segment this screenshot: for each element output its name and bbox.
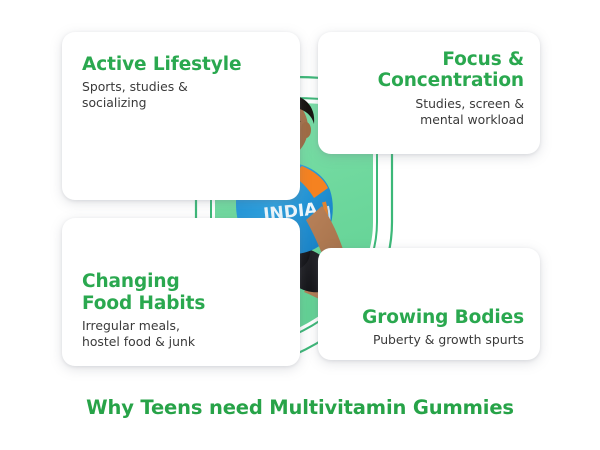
card-active-lifestyle-content: Active Lifestyle Sports, studies & socia… bbox=[82, 54, 286, 111]
card-focus-concentration-content: Focus & Concentration Studies, screen & … bbox=[332, 49, 524, 128]
card-changing-food-habits-description: Irregular meals, hostel food & junk bbox=[82, 318, 286, 350]
card-growing-bodies: Growing Bodies Puberty & growth spurts bbox=[318, 248, 540, 360]
card-active-lifestyle-title: Active Lifestyle bbox=[82, 54, 286, 75]
infographic-canvas: INDIA bbox=[0, 0, 600, 450]
card-focus-concentration-description: Studies, screen & mental workload bbox=[415, 96, 524, 128]
card-changing-food-habits-title: Changing Food Habits bbox=[82, 271, 286, 314]
card-growing-bodies-title: Growing Bodies bbox=[362, 307, 524, 328]
card-changing-food-habits-content: Changing Food Habits Irregular meals, ho… bbox=[82, 271, 286, 350]
card-changing-food-habits: Changing Food Habits Irregular meals, ho… bbox=[62, 218, 300, 366]
card-active-lifestyle-description: Sports, studies & socializing bbox=[82, 79, 286, 111]
card-growing-bodies-description: Puberty & growth spurts bbox=[373, 332, 524, 348]
card-focus-concentration-title: Focus & Concentration bbox=[378, 49, 524, 92]
infographic-caption: Why Teens need Multivitamin Gummies bbox=[0, 396, 600, 419]
card-growing-bodies-content: Growing Bodies Puberty & growth spurts bbox=[332, 307, 524, 348]
card-focus-concentration: Focus & Concentration Studies, screen & … bbox=[318, 32, 540, 154]
card-active-lifestyle: Active Lifestyle Sports, studies & socia… bbox=[62, 32, 300, 200]
